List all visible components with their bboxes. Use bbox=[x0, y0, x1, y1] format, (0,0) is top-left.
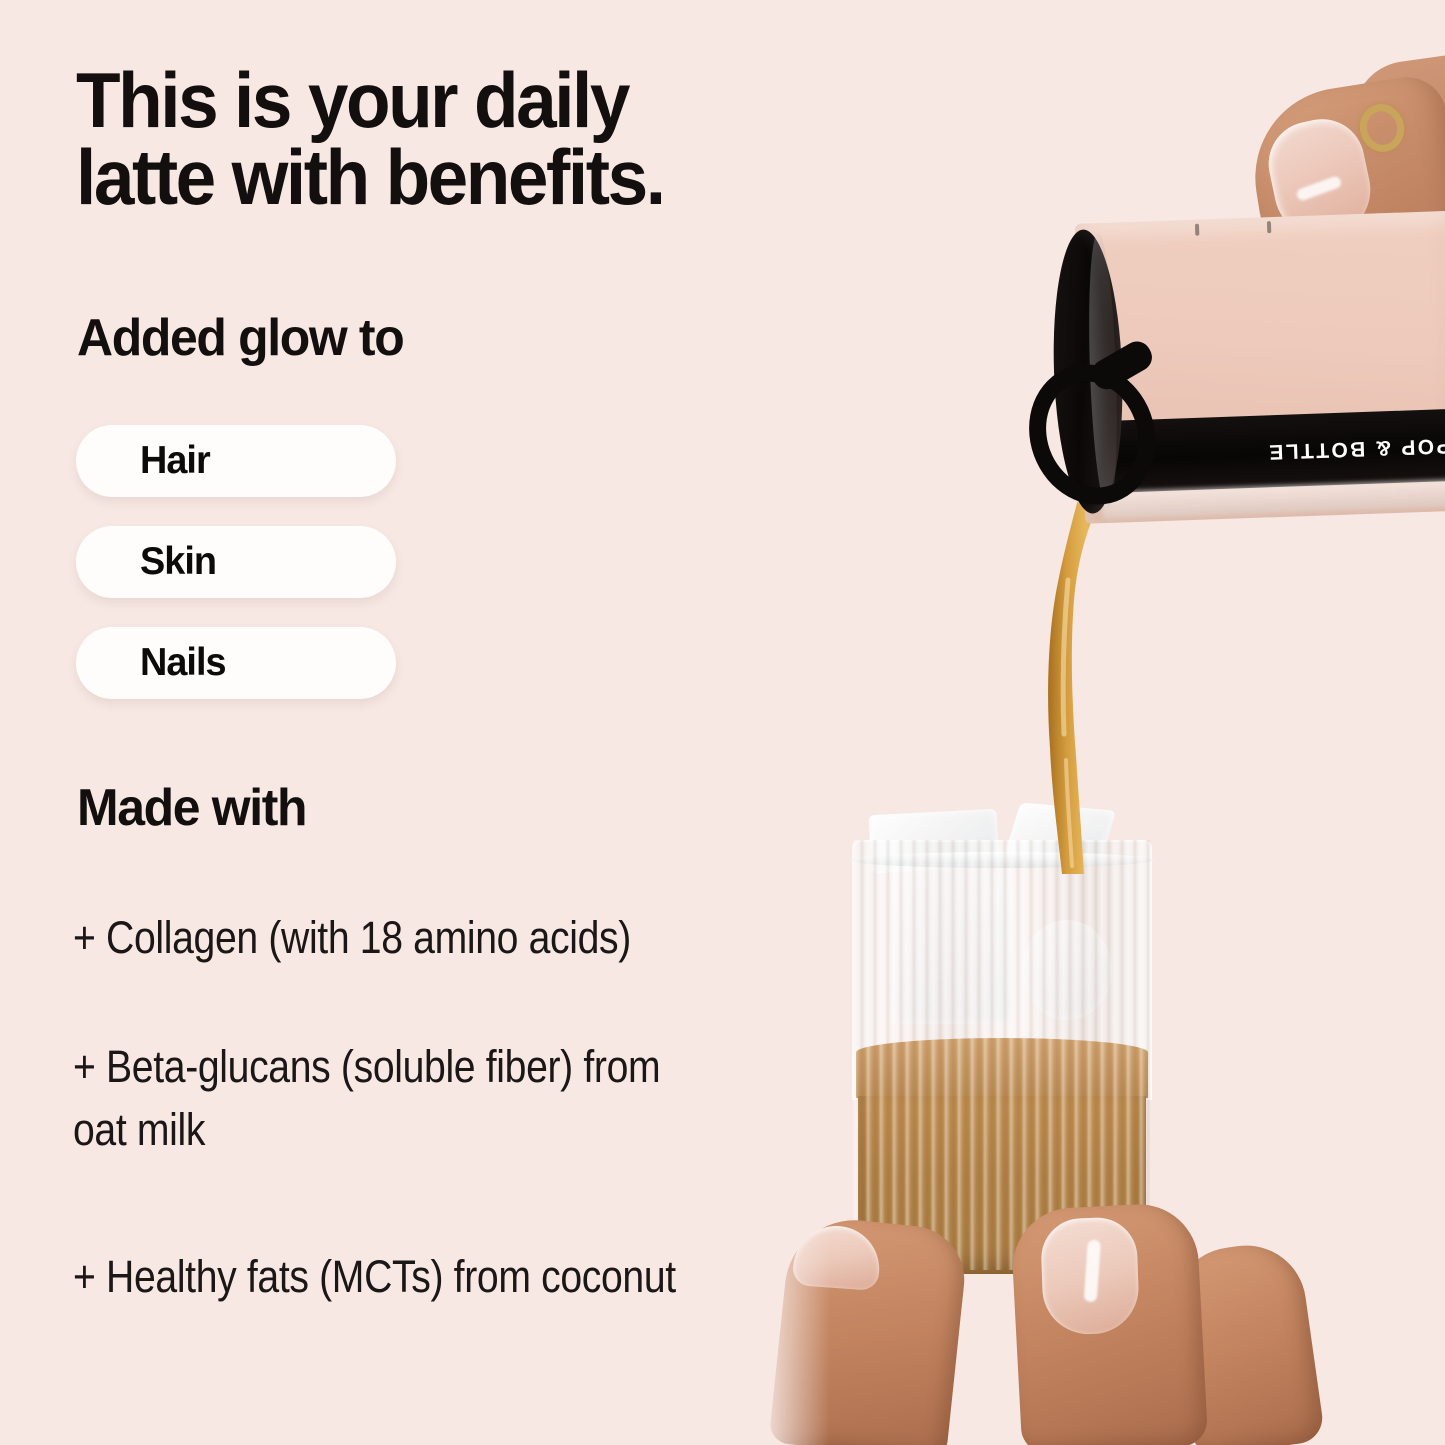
latte-surface bbox=[856, 1038, 1148, 1104]
made-with-heading: Made with bbox=[77, 778, 807, 838]
product-can: POP & BOTTLE bbox=[1033, 211, 1445, 525]
benefit-pill-hair[interactable]: Hair bbox=[76, 425, 396, 497]
benefit-pill-skin[interactable]: Skin bbox=[76, 526, 396, 598]
copy-column: This is your daily latte with benefits. … bbox=[0, 0, 880, 1445]
fingernail bbox=[1040, 1216, 1140, 1335]
page-title: This is your daily latte with benefits. bbox=[76, 62, 824, 216]
ingredient-item: + Beta-glucans (soluble fiber) from oat … bbox=[73, 1035, 699, 1161]
ice-cube bbox=[1022, 920, 1112, 1020]
ingredient-item: + Healthy fats (MCTs) from coconut bbox=[73, 1245, 699, 1308]
ingredient-item: + Collagen (with 18 amino acids) bbox=[73, 906, 699, 969]
benefit-label: Hair bbox=[140, 439, 210, 483]
ice-cube bbox=[892, 864, 1012, 1024]
can-notch bbox=[1267, 221, 1271, 233]
benefit-pill-nails[interactable]: Nails bbox=[76, 627, 396, 699]
added-glow-heading: Added glow to bbox=[77, 308, 807, 368]
marketing-product-graphic: POP & BOTTLE bbox=[0, 0, 1445, 1445]
benefit-label: Skin bbox=[140, 540, 216, 584]
can-notch bbox=[1195, 224, 1199, 236]
brand-name: POP & BOTTLE bbox=[1267, 433, 1445, 463]
benefit-label: Nails bbox=[140, 641, 226, 685]
